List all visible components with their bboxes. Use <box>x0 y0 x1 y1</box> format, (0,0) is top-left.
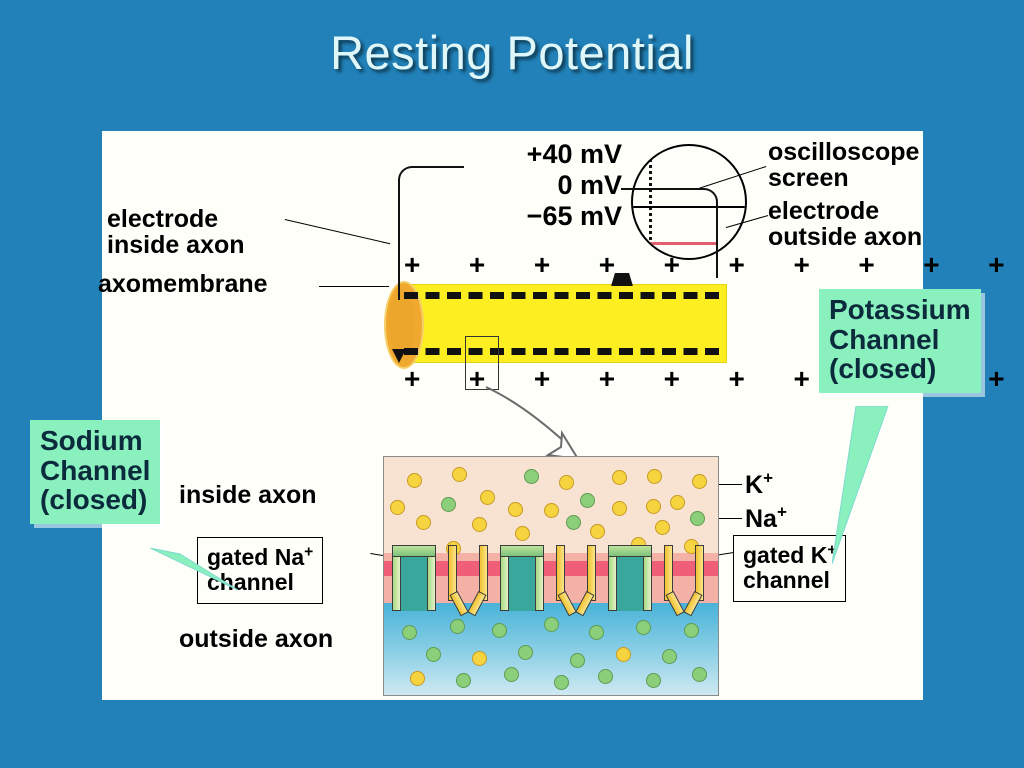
label-na-ion-text: Na <box>745 505 777 533</box>
channel-pore <box>617 556 643 611</box>
label-k-ion: K+ <box>745 472 773 498</box>
ion-potassium <box>472 651 487 666</box>
ion-sodium <box>441 497 456 512</box>
zoom-region-box <box>465 336 499 390</box>
ion-potassium <box>559 475 574 490</box>
ion-potassium <box>452 467 467 482</box>
channel-pore <box>509 556 535 611</box>
channel-potassium-closed <box>448 545 488 615</box>
ion-sodium <box>636 620 651 635</box>
channel-potassium-closed <box>556 545 596 615</box>
charge-row-inner-bottom <box>404 348 719 355</box>
ion-potassium <box>410 671 425 686</box>
channel-gate-left <box>450 591 469 616</box>
leader-line-electrode-inside <box>285 219 390 244</box>
ion-sodium <box>524 469 539 484</box>
label-box-gated-k-channel: gated K+channel <box>733 535 846 602</box>
gated-k-label-line1: gated K <box>743 542 827 568</box>
channel-gate-left <box>558 591 577 616</box>
ion-potassium <box>390 500 405 515</box>
ion-sodium <box>450 619 465 634</box>
ion-potassium <box>590 524 605 539</box>
label-na-ion-superscript: + <box>777 503 787 522</box>
ion-sodium <box>566 515 581 530</box>
ion-sodium <box>570 653 585 668</box>
channel-gate-right <box>467 591 486 616</box>
ion-potassium <box>407 473 422 488</box>
leader-line-axomembrane <box>319 286 389 287</box>
ion-potassium <box>416 515 431 530</box>
ion-sodium <box>402 625 417 640</box>
channel-gate-right <box>575 591 594 616</box>
page-title: Resting Potential <box>0 25 1024 80</box>
ion-potassium <box>612 501 627 516</box>
label-k-ion-superscript: + <box>763 469 773 488</box>
gated-k-label-line2: channel <box>743 567 830 593</box>
ion-potassium <box>544 503 559 518</box>
channel-sodium-closed <box>392 545 436 611</box>
ion-potassium <box>508 502 523 517</box>
channel-sodium-closed <box>608 545 652 611</box>
ion-sodium <box>589 625 604 640</box>
channel-gate-cap <box>500 545 544 557</box>
label-outside-axon: outside axon <box>179 626 333 652</box>
label-electrode-inside-axon: electrode inside axon <box>107 206 245 258</box>
ion-sodium <box>692 667 707 682</box>
ion-sodium <box>544 617 559 632</box>
ion-potassium <box>670 495 685 510</box>
ion-sodium <box>684 623 699 638</box>
ion-sodium <box>504 667 519 682</box>
potassium-callout-tail <box>832 406 892 566</box>
membrane-cross-section <box>383 456 719 696</box>
figure-panel: +40 mV 0 mV −65 mV electrode inside axon… <box>102 131 923 700</box>
electrode-inside-arrowhead <box>392 349 406 363</box>
ion-sodium <box>492 623 507 638</box>
label-inside-axon: inside axon <box>179 482 317 508</box>
label-k-ion-text: K <box>745 471 763 499</box>
callout-sodium-channel[interactable]: Sodium Channel (closed) <box>30 420 160 524</box>
ion-potassium <box>472 517 487 532</box>
ion-potassium <box>692 474 707 489</box>
callout-potassium-channel[interactable]: Potassium Channel (closed) <box>819 289 981 393</box>
channel-gate-cap <box>392 545 436 557</box>
gated-na-label-sup: + <box>304 543 313 560</box>
ion-potassium <box>646 499 661 514</box>
ion-sodium <box>456 673 471 688</box>
label-electrode-outside-axon: electrode outside axon <box>768 198 922 250</box>
ion-sodium <box>426 647 441 662</box>
ion-potassium <box>616 647 631 662</box>
ion-potassium <box>515 526 530 541</box>
ion-sodium <box>580 493 595 508</box>
electrode-outside-wire <box>621 188 718 278</box>
channel-sodium-closed <box>500 545 544 611</box>
channel-pore <box>401 556 427 611</box>
ion-potassium <box>655 520 670 535</box>
electrode-inside-wire <box>398 166 464 300</box>
ion-potassium <box>647 469 662 484</box>
label-oscilloscope-screen: oscilloscope screen <box>768 139 919 191</box>
sodium-callout-tail <box>150 548 240 593</box>
channel-gate-right <box>683 591 702 616</box>
ion-potassium <box>480 490 495 505</box>
channel-gate-cap <box>608 545 652 557</box>
ion-potassium <box>612 470 627 485</box>
label-na-ion: Na+ <box>745 506 787 532</box>
ion-sodium <box>646 673 661 688</box>
label-axomembrane: axomembrane <box>98 271 268 297</box>
ion-sodium <box>662 649 677 664</box>
ion-sodium <box>690 511 705 526</box>
ion-sodium <box>554 675 569 690</box>
ion-sodium <box>518 645 533 660</box>
ion-sodium <box>598 669 613 684</box>
channel-gate-left <box>666 591 685 616</box>
channel-potassium-closed <box>664 545 704 615</box>
